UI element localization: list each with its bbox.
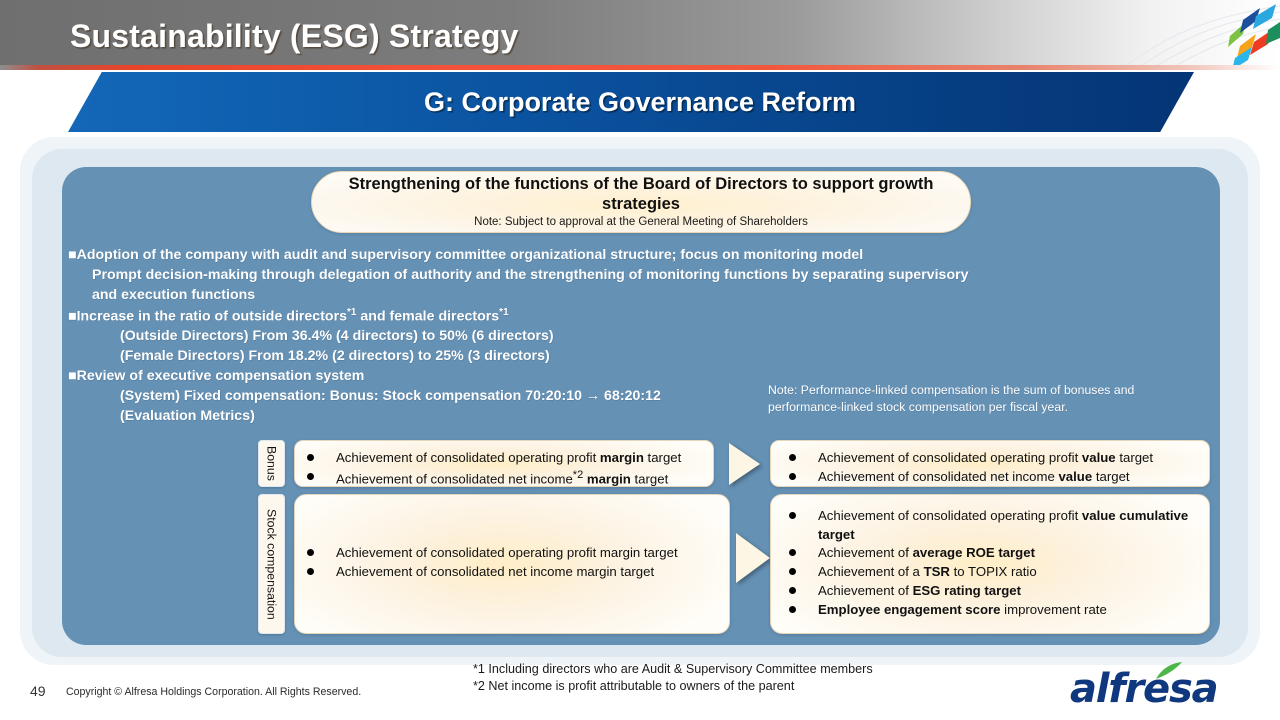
square-bullet-icon: ■	[68, 247, 77, 263]
list-item: Achievement of consolidated operating pr…	[789, 449, 1201, 468]
slide-header-bar: Sustainability (ESG) Strategy	[0, 0, 1280, 65]
list-item-label: Achievement of ESG rating target	[818, 582, 1195, 601]
bullet-dot-icon	[789, 454, 796, 461]
bullet-dot-icon	[307, 473, 314, 480]
stock-left-items: Achievement of consolidated operating pr…	[307, 544, 721, 581]
copyright-text: Copyright © Alfresa Holdings Corporation…	[66, 686, 361, 698]
bullet-subline: Prompt decision-making through delegatio…	[68, 266, 1168, 286]
bullet-dot-icon	[307, 568, 314, 575]
bullet-subline: and execution functions	[68, 286, 1168, 306]
section-banner-title: G: Corporate Governance Reform	[0, 72, 1280, 132]
list-item-label: Achievement of a TSR to TOPIX ratio	[818, 563, 1195, 582]
footnote-line: *1 Including directors who are Audit & S…	[473, 661, 873, 678]
list-item-label: Achievement of consolidated net income*2…	[336, 468, 705, 489]
bullet-dot-icon	[789, 549, 796, 556]
row-label-bonus: Bonus	[258, 440, 285, 487]
list-item-label: Achievement of average ROE target	[818, 544, 1195, 563]
callout-title: Strengthening of the functions of the Bo…	[338, 175, 944, 214]
alfresa-logo: alfresa	[1070, 664, 1240, 710]
row-label-stock-compensation: Stock compensation	[258, 494, 285, 634]
bullet-dot-icon	[789, 512, 796, 519]
bullet-dot-icon	[307, 454, 314, 461]
section-banner: G: Corporate Governance Reform	[0, 72, 1280, 132]
bullet-subline: (Female Directors) From 18.2% (2 directo…	[68, 347, 1168, 367]
list-item: Achievement of consolidated operating pr…	[789, 507, 1195, 544]
callout-headline: Strengthening of the functions of the Bo…	[311, 171, 971, 233]
list-item-label: Achievement of consolidated operating pr…	[336, 544, 721, 563]
bullet-heading: ■Increase in the ratio of outside direct…	[68, 306, 1168, 328]
arrow-right-icon-2	[736, 533, 770, 583]
list-item-label: Achievement of consolidated operating pr…	[818, 449, 1201, 468]
header-accent-rule	[0, 65, 1280, 70]
bullet-dot-icon	[789, 473, 796, 480]
page-number: 49	[30, 683, 46, 699]
list-item: Achievement of consolidated net income*2…	[307, 468, 705, 489]
compensation-side-note: Note: Performance-linked compensation is…	[768, 382, 1188, 416]
list-item: Achievement of consolidated net income m…	[307, 563, 721, 582]
list-item-label: Employee engagement score improvement ra…	[818, 601, 1195, 620]
list-item: Employee engagement score improvement ra…	[789, 601, 1195, 620]
alfresa-leaves-icon	[1228, 4, 1280, 65]
footnote-line: *2 Net income is profit attributable to …	[473, 678, 873, 695]
bullet-dot-icon	[307, 549, 314, 556]
square-bullet-icon: ■	[68, 308, 77, 324]
bonus-left-items: Achievement of consolidated operating pr…	[307, 449, 705, 489]
arrow-right-icon-1	[729, 443, 760, 485]
list-item-label: Achievement of consolidated operating pr…	[336, 449, 705, 468]
list-item: Achievement of consolidated net income v…	[789, 468, 1201, 487]
list-item-label: Achievement of consolidated operating pr…	[818, 507, 1195, 544]
bullet-subline: (Outside Directors) From 36.4% (4 direct…	[68, 327, 1168, 347]
list-item-label: Achievement of consolidated net income v…	[818, 468, 1201, 487]
slide-root: Sustainability (ESG) Strategy G: Corpora…	[0, 0, 1280, 720]
bullet-heading: ■Adoption of the company with audit and …	[68, 246, 1168, 266]
list-item-label: Achievement of consolidated net income m…	[336, 563, 721, 582]
bonus-left-card: Achievement of consolidated operating pr…	[294, 440, 714, 487]
bonus-right-card: Achievement of consolidated operating pr…	[770, 440, 1210, 487]
list-item: Achievement of consolidated operating pr…	[307, 544, 721, 563]
bullet-dot-icon	[789, 568, 796, 575]
leaf-icon	[1154, 662, 1184, 682]
stock-right-card: Achievement of consolidated operating pr…	[770, 494, 1210, 634]
footnotes: *1 Including directors who are Audit & S…	[473, 661, 873, 696]
callout-note: Note: Subject to approval at the General…	[474, 216, 808, 228]
list-item: Achievement of consolidated operating pr…	[307, 449, 705, 468]
list-item: Achievement of ESG rating target	[789, 582, 1195, 601]
list-item: Achievement of a TSR to TOPIX ratio	[789, 563, 1195, 582]
list-item: Achievement of average ROE target	[789, 544, 1195, 563]
header-swoosh-decoration	[1080, 0, 1280, 65]
alfresa-logo-text: alfresa	[1070, 666, 1217, 712]
square-bullet-icon: ■	[68, 368, 77, 384]
stock-left-card: Achievement of consolidated operating pr…	[294, 494, 730, 634]
bullet-dot-icon	[789, 606, 796, 613]
stock-right-items: Achievement of consolidated operating pr…	[789, 507, 1195, 619]
bullet-dot-icon	[789, 587, 796, 594]
page-title: Sustainability (ESG) Strategy	[70, 18, 519, 55]
bonus-right-items: Achievement of consolidated operating pr…	[789, 449, 1201, 486]
